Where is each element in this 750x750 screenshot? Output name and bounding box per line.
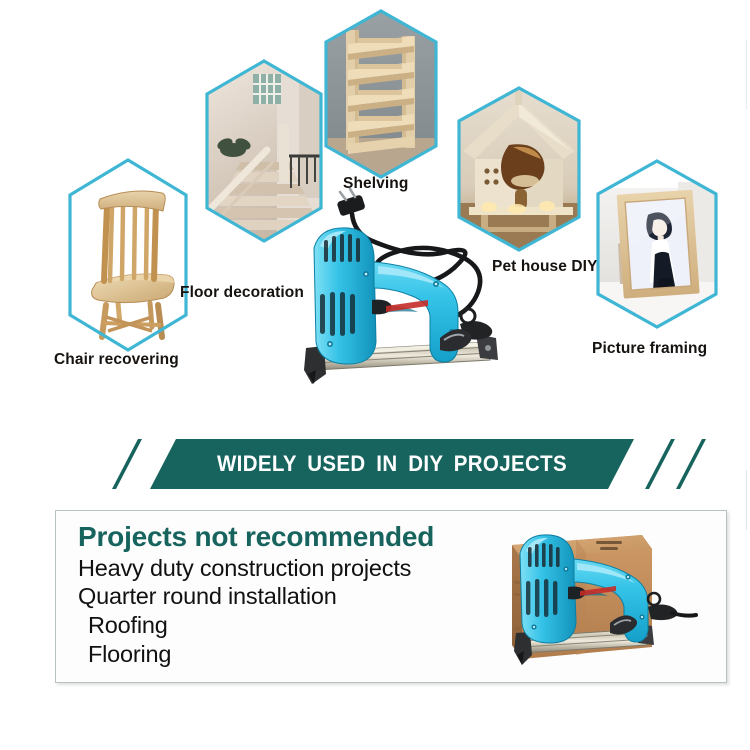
not-recommended-item-1: Heavy duty construction projects [78,554,508,583]
picture-frame-photo [594,158,720,330]
hex-label-floor-decoration: Floor decoration [180,284,304,302]
banner-accent-right-1 [645,439,675,489]
hero-product-nail-gun[interactable] [290,188,530,398]
hex-tile-shelving[interactable] [322,8,440,180]
nail-gun-with-shipping-box [476,519,704,677]
section-banner: WIDELY USED IN DIY PROJECTS [0,437,750,493]
wooden-chair-photo [62,155,194,355]
not-recommended-text-block: Projects not recommended Heavy duty cons… [78,523,508,669]
page-edge-rule [746,40,747,110]
hex-tile-chair[interactable] [62,155,194,355]
not-recommended-heading: Projects not recommended [78,523,508,552]
hex-label-picture-framing: Picture framing [592,340,707,358]
banner-accent-left [112,439,142,489]
not-recommended-panel: Projects not recommended Heavy duty cons… [55,510,727,683]
plug-icon [336,189,365,217]
wooden-shelf-photo [322,8,440,180]
not-recommended-item-2: Quarter round installation [78,582,508,611]
not-recommended-item-4: Flooring [78,640,508,669]
electric-nail-gun [290,188,530,398]
banner-accent-right-2 [676,439,706,489]
packaging-product-shot[interactable] [476,519,704,682]
product-feature-image: Chair recovering [0,0,750,750]
banner-title: WIDELY USED IN DIY PROJECTS [167,439,617,489]
hex-tile-picture-framing[interactable] [594,158,720,330]
hex-label-chair: Chair recovering [54,351,179,369]
not-recommended-item-3: Roofing [78,611,508,640]
